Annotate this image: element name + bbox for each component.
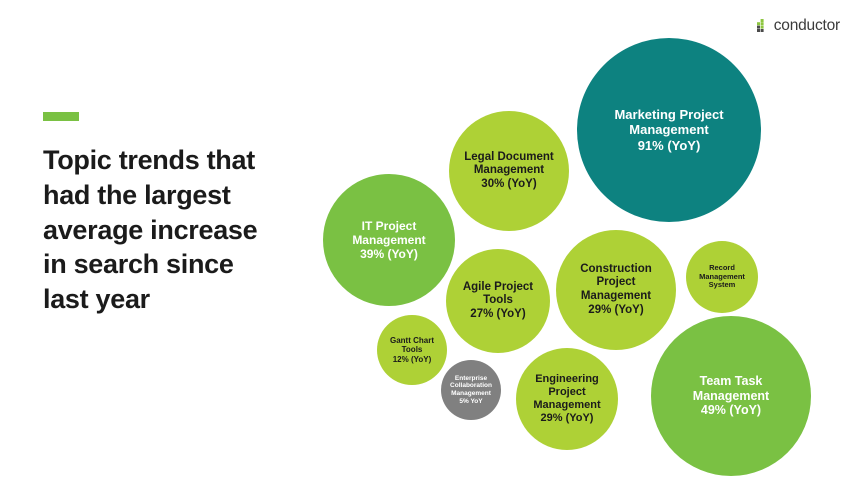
- bubble-marketing-project-management[interactable]: Marketing Project Management 91% (YoY): [577, 38, 761, 222]
- bubble-label: Record Management System: [699, 264, 745, 291]
- bubble-engineering-project-management[interactable]: Engineering Project Management 29% (YoY): [516, 348, 618, 450]
- bubble-label: IT Project Management 39% (YoY): [352, 219, 425, 261]
- bubble-label: Engineering Project Management 29% (YoY): [533, 373, 600, 425]
- bubble-agile-project-tools[interactable]: Agile Project Tools 27% (YoY): [446, 249, 550, 353]
- bubble-legal-document-management[interactable]: Legal Document Management 30% (YoY): [449, 111, 569, 231]
- bubble-gantt-chart-tools[interactable]: Gantt Chart Tools 12% (YoY): [377, 315, 447, 385]
- bubble-label: Agile Project Tools 27% (YoY): [463, 281, 533, 322]
- bubble-label: Legal Document Management 30% (YoY): [464, 151, 553, 192]
- bubble-label: Team Task Management 49% (YoY): [693, 374, 769, 418]
- bubble-construction-project-management[interactable]: Construction Project Management 29% (YoY…: [556, 230, 676, 350]
- bubble-chart: Marketing Project Management 91% (YoY)IT…: [0, 0, 856, 486]
- bubble-label: Construction Project Management 29% (YoY…: [580, 263, 652, 317]
- bubble-label: Marketing Project Management 91% (YoY): [579, 107, 759, 153]
- bubble-team-task-management[interactable]: Team Task Management 49% (YoY): [651, 316, 811, 476]
- bubble-it-project-management[interactable]: IT Project Management 39% (YoY): [323, 174, 455, 306]
- bubble-record-management-system[interactable]: Record Management System: [686, 241, 758, 313]
- bubble-label: Gantt Chart Tools 12% (YoY): [390, 336, 434, 364]
- bubble-enterprise-collaboration-management[interactable]: Enterprise Collaboration Management 5% Y…: [441, 360, 501, 420]
- bubble-label: Enterprise Collaboration Management 5% Y…: [450, 375, 492, 406]
- slide-canvas: conductor Topic trends that had the larg…: [0, 0, 856, 486]
